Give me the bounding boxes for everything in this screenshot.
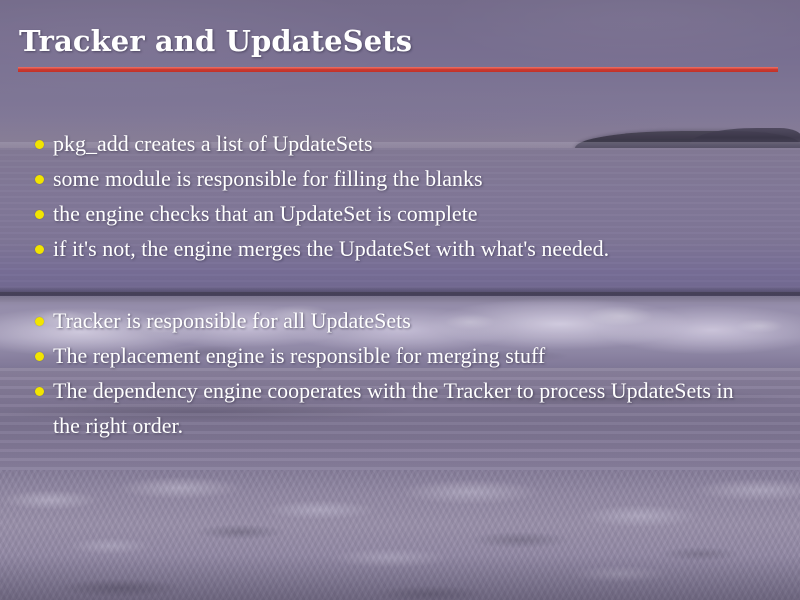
list-item: pkg_add creates a list of UpdateSets: [30, 126, 758, 161]
slide-content: Tracker and UpdateSets pkg_add creates a…: [0, 0, 800, 600]
list-item: if it's not, the engine merges the Updat…: [30, 231, 758, 266]
list-item: The replacement engine is responsible fo…: [30, 338, 758, 373]
bullet-dot-icon: [35, 317, 44, 326]
bullet-dot-icon: [35, 352, 44, 361]
slide-title: Tracker and UpdateSets: [19, 24, 412, 58]
list-item: Tracker is responsible for all UpdateSet…: [30, 303, 758, 338]
bullet-dot-icon: [35, 245, 44, 254]
list-item: the engine checks that an UpdateSet is c…: [30, 196, 758, 231]
presentation-slide: Tracker and UpdateSets pkg_add creates a…: [0, 0, 800, 600]
list-item-text: the engine checks that an UpdateSet is c…: [53, 196, 758, 231]
bullet-dot-icon: [35, 387, 44, 396]
list-item-text: Tracker is responsible for all UpdateSet…: [53, 303, 758, 338]
list-item-text: The replacement engine is responsible fo…: [53, 338, 758, 373]
bullet-dot-icon: [35, 175, 44, 184]
bullet-list: pkg_add creates a list of UpdateSets som…: [30, 126, 758, 443]
list-item: some module is responsible for filling t…: [30, 161, 758, 196]
list-item-text: The dependency engine cooperates with th…: [53, 373, 758, 443]
title-underline-rule: [18, 67, 778, 72]
list-item-text: some module is responsible for filling t…: [53, 161, 758, 196]
bullet-dot-icon: [35, 210, 44, 219]
list-item: The dependency engine cooperates with th…: [30, 373, 758, 443]
bullet-dot-icon: [35, 140, 44, 149]
list-item-text: if it's not, the engine merges the Updat…: [53, 231, 758, 266]
list-item-text: pkg_add creates a list of UpdateSets: [53, 126, 758, 161]
